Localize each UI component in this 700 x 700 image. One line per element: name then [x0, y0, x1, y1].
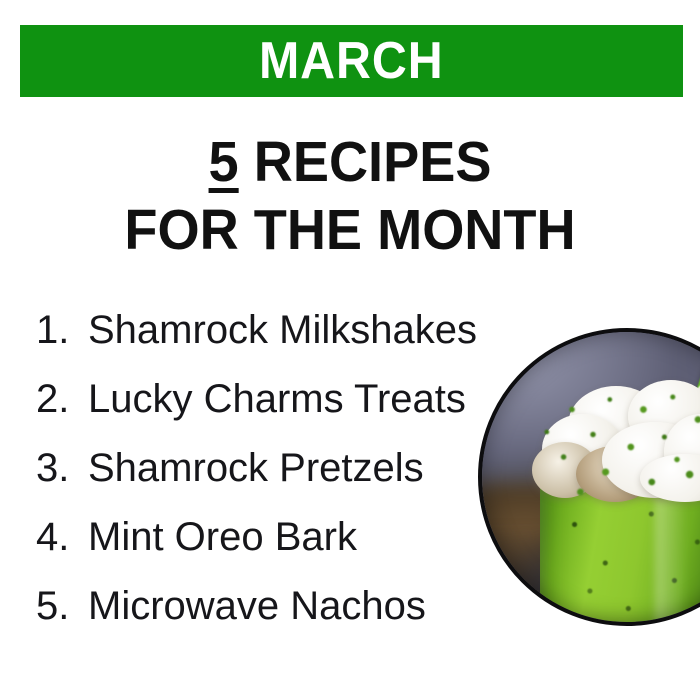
recipe-count: 5	[209, 130, 239, 194]
headline-block: 5 RECIPES FOR THE MONTH	[0, 128, 700, 264]
list-item-label: Lucky Charms Treats	[88, 365, 506, 434]
photo-inner	[482, 332, 700, 622]
headline-line-1: 5 RECIPES	[18, 128, 683, 196]
list-item-label: Shamrock Milkshakes	[88, 296, 506, 365]
list-item-number: 3.	[36, 434, 88, 503]
list-item-number: 2.	[36, 365, 88, 434]
list-item-label: Shamrock Pretzels	[88, 434, 506, 503]
shamrock-milkshake-photo	[478, 328, 700, 626]
list-item: 5. Microwave Nachos	[36, 572, 506, 641]
list-item: 3. Shamrock Pretzels	[36, 434, 506, 503]
list-item-number: 1.	[36, 296, 88, 365]
recipe-poster: MARCH 5 RECIPES FOR THE MONTH 1. Shamroc…	[0, 0, 700, 700]
list-item: 2. Lucky Charms Treats	[36, 365, 506, 434]
month-banner: MARCH	[20, 25, 683, 97]
headline-line-1-rest: RECIPES	[239, 130, 492, 194]
list-item-label: Microwave Nachos	[88, 572, 506, 641]
month-banner-label: MARCH	[259, 35, 444, 87]
list-item: 4. Mint Oreo Bark	[36, 503, 506, 572]
list-item: 1. Shamrock Milkshakes	[36, 296, 506, 365]
headline-line-2: FOR THE MONTH	[18, 196, 683, 264]
recipe-list: 1. Shamrock Milkshakes 2. Lucky Charms T…	[36, 296, 506, 641]
list-item-label: Mint Oreo Bark	[88, 503, 506, 572]
whipped-cream	[532, 380, 700, 500]
list-item-number: 5.	[36, 572, 88, 641]
glass-highlight	[655, 483, 686, 623]
list-item-number: 4.	[36, 503, 88, 572]
